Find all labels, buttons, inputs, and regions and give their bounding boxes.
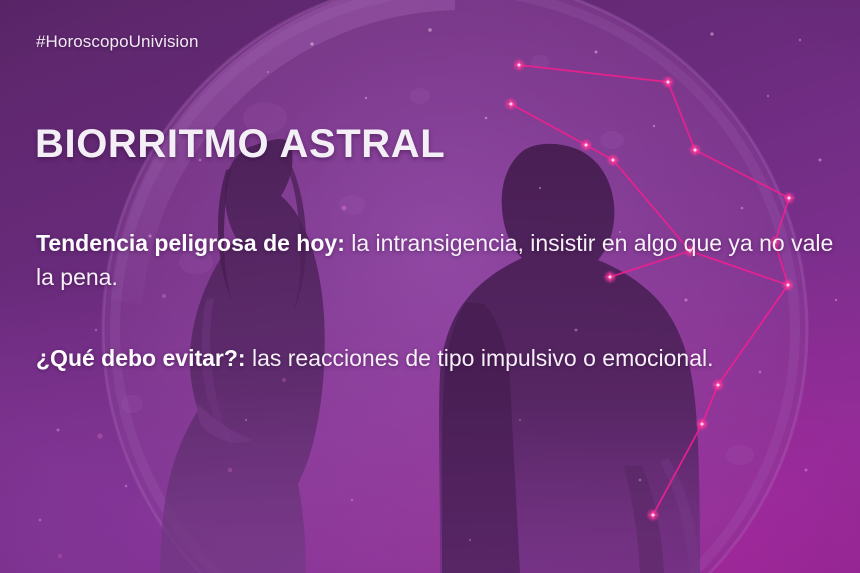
constellation-star-icon xyxy=(646,508,660,522)
constellation-star-icon xyxy=(768,235,782,249)
constellation-star-icon xyxy=(711,378,725,392)
constellation-star-icon xyxy=(504,97,518,111)
constellation-star-icon xyxy=(683,244,697,258)
constellation-lines xyxy=(511,65,789,515)
constellation-star-icon xyxy=(603,270,617,284)
constellation-star-icon xyxy=(782,191,796,205)
constellation-star-icon xyxy=(781,278,795,292)
constellation-star-icon xyxy=(606,153,620,167)
constellation-star-icon xyxy=(661,75,675,89)
constellation-stars xyxy=(504,58,796,522)
constellation-overlay xyxy=(0,0,860,573)
constellation-star-icon xyxy=(688,143,702,157)
constellation-star-icon xyxy=(579,138,593,152)
constellation-star-icon xyxy=(695,417,709,431)
constellation-star-icon xyxy=(512,58,526,72)
horoscope-graphic: #HoroscopoUnivision BIORRITMO ASTRAL Ten… xyxy=(0,0,860,573)
